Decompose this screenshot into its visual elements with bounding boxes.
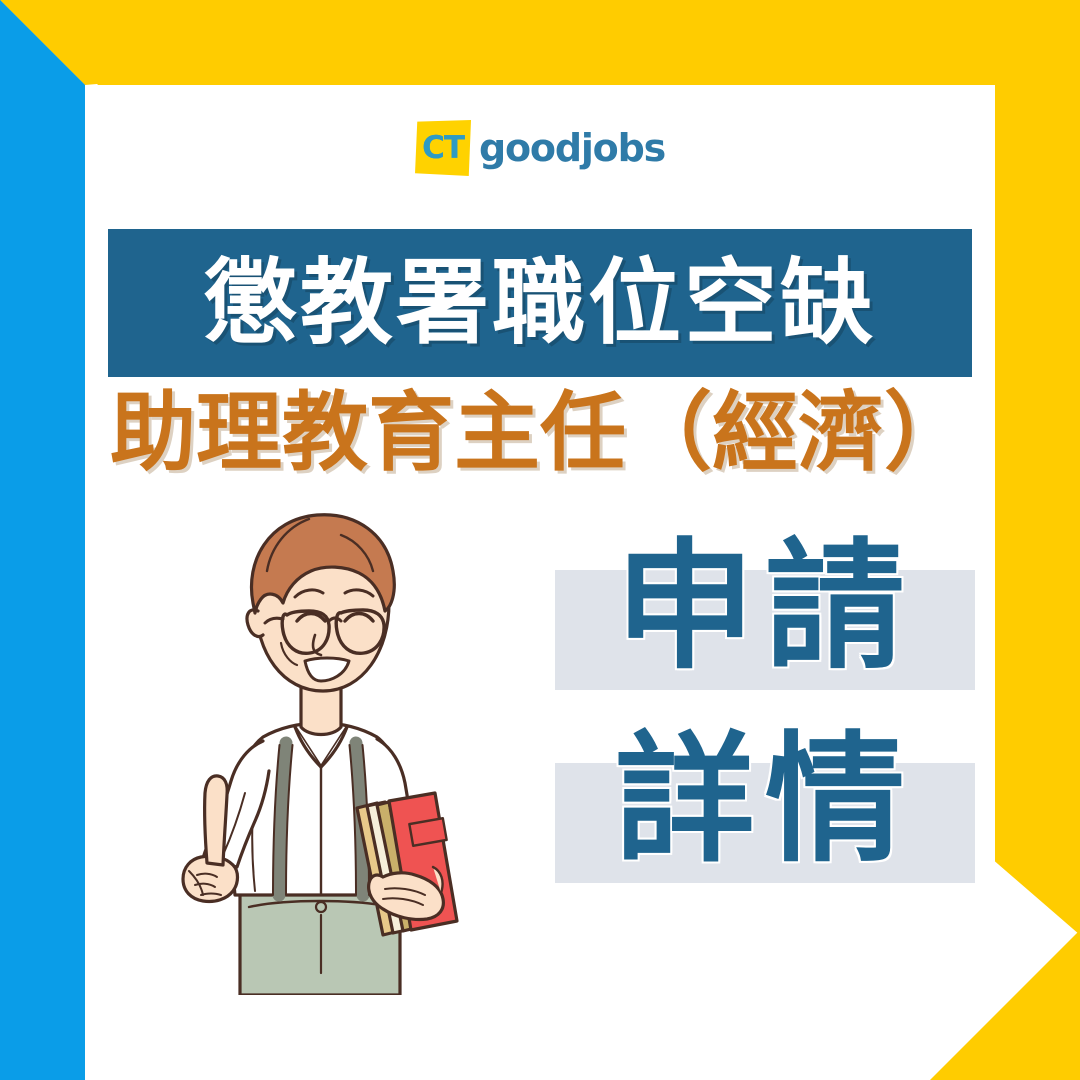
cta-apply[interactable]: 申請 — [555, 525, 975, 700]
headline-banner: 懲教署職位空缺 — [108, 229, 972, 377]
cta-details-label: 詳情 — [555, 718, 975, 883]
cta-apply-label: 申請 — [555, 525, 975, 690]
brand-logo[interactable]: CT goodjobs — [85, 120, 995, 176]
logo-mark-text: CT — [415, 120, 471, 176]
cta-stack: 申請 詳情 — [555, 525, 975, 911]
logo-wordmark: goodjobs — [479, 129, 665, 167]
poster-card: CT goodjobs 懲教署職位空缺 助理教育主任（經濟） 申請 詳情 — [85, 85, 995, 995]
headline-text: 懲教署職位空缺 — [204, 257, 876, 350]
job-title-subtitle: 助理教育主任（經濟） — [85, 390, 995, 476]
poster-root: CT goodjobs 懲教署職位空缺 助理教育主任（經濟） 申請 詳情 — [0, 0, 1080, 1080]
cta-details[interactable]: 詳情 — [555, 718, 975, 893]
man-pointing-illustration — [145, 475, 495, 995]
ct-logo-mark-icon: CT — [415, 120, 471, 176]
